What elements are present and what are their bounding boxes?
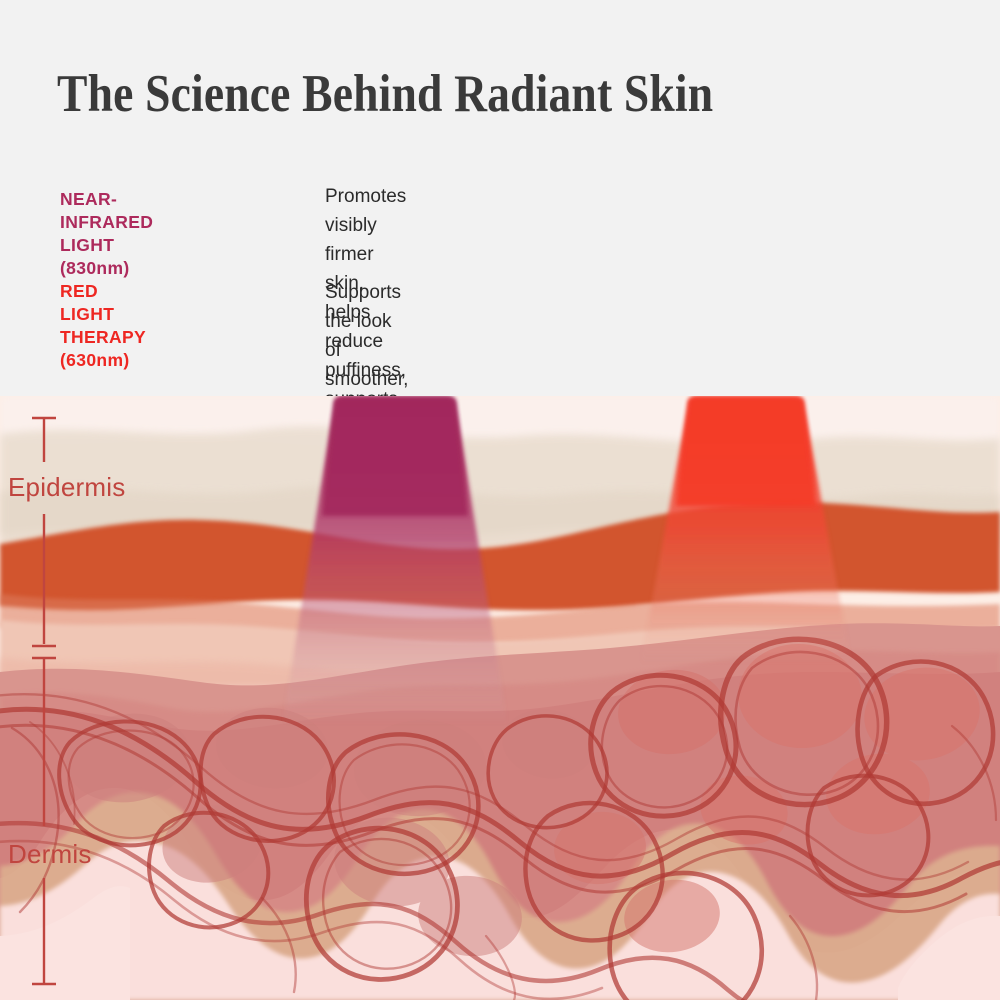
red-light-label: RED LIGHT THERAPY (630nm) xyxy=(60,280,146,372)
infographic-page: The Science Behind Radiant Skin NEAR-INF… xyxy=(0,0,1000,1000)
page-title: The Science Behind Radiant Skin xyxy=(57,64,713,124)
near-infrared-label: NEAR-INFRARED LIGHT (830nm) xyxy=(60,188,153,280)
skin-cross-section-illustration xyxy=(0,396,1000,1000)
